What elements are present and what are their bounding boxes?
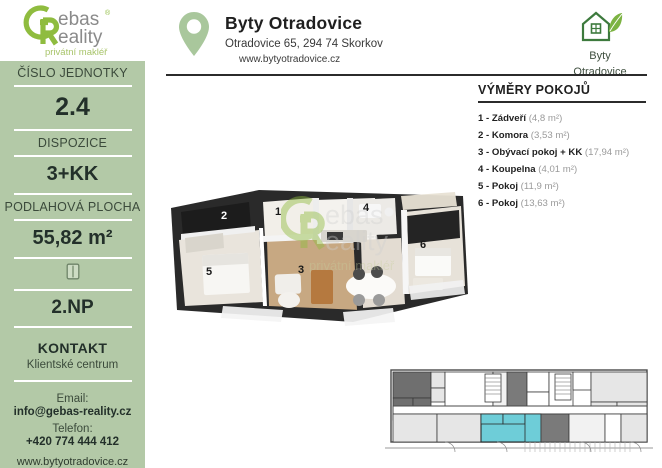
room-area: (13,63 m²) <box>521 198 565 209</box>
room-areas-panel: VÝMĚRY POKOJŮ 1 - Zádveří (4,8 m²) 2 - K… <box>478 83 653 212</box>
floorplan-flyer: ebas ® eality privátní makléř ČÍSLO JEDN… <box>0 0 662 468</box>
unit-number-value: 2.4 <box>0 87 145 129</box>
room-name: Pokoj <box>492 181 518 192</box>
byty-otradovice-brand: Byty Otradovice <box>552 8 648 78</box>
phone-label: Telefon: <box>0 421 145 436</box>
layout-label: DISPOZICE <box>0 131 145 155</box>
room-number-5: 5 <box>206 266 212 278</box>
apartment-3d-floorplan: ebas eality privátní makléř 1 2 3 4 5 6 <box>163 182 478 334</box>
building-icon <box>66 263 80 285</box>
room-number-1: 1 <box>275 206 281 218</box>
header: Byty Otradovice Otradovice 65, 294 74 Sk… <box>145 0 662 72</box>
address-text: Otradovice 65, 294 74 Skorkov <box>225 34 383 50</box>
floor-area-label: PODLAHOVÁ PLOCHA <box>0 195 145 219</box>
building-site-plan <box>385 362 653 460</box>
header-divider <box>166 74 647 76</box>
room-list-item: 3 - Obývací pokoj + KK (17,94 m²) <box>478 144 653 161</box>
header-website[interactable]: www.bytyotradovice.cz <box>225 50 383 65</box>
sidebar: ebas ® eality privátní makléř ČÍSLO JEDN… <box>0 0 145 468</box>
room-area: (17,94 m²) <box>585 147 629 158</box>
room-number: 4 - <box>478 164 492 175</box>
room-number-4: 4 <box>363 202 369 214</box>
room-number: 6 - <box>478 198 492 209</box>
room-number: 5 - <box>478 181 492 192</box>
room-area: (3,53 m²) <box>531 130 570 141</box>
floor-area-value: 55,82 m² <box>0 221 145 257</box>
page-title: Byty Otradovice <box>225 13 383 34</box>
sidebar-details: ČÍSLO JEDNOTKY 2.4 DISPOZICE 3+KK PODLAH… <box>0 61 145 468</box>
email-label: Email: <box>0 391 145 406</box>
house-leaf-icon <box>569 29 631 46</box>
header-text: Byty Otradovice Otradovice 65, 294 74 Sk… <box>225 13 383 65</box>
room-area: (11,9 m²) <box>521 181 559 192</box>
room-number: 3 - <box>478 147 492 158</box>
logo-line2-text: eality <box>58 27 103 48</box>
layout-value: 3+KK <box>0 157 145 193</box>
phone-value[interactable]: +420 774 444 412 <box>0 436 145 451</box>
gebas-reality-logo: ebas ® eality privátní makléř <box>17 1 129 61</box>
room-name: Koupelna <box>492 164 536 175</box>
room-number: 2 - <box>478 130 492 141</box>
room-list-item: 5 - Pokoj (11,9 m²) <box>478 178 653 195</box>
logo-registered-mark: ® <box>105 9 111 17</box>
room-name: Zádveří <box>492 113 526 124</box>
website-link[interactable]: www.bytyotradovice.cz <box>0 451 145 468</box>
room-number-3: 3 <box>298 264 304 276</box>
floor-value: 2.NP <box>0 291 145 326</box>
contact-title: KONTAKT <box>0 340 145 356</box>
contact-details: Email: info@gebas-reality.cz Telefon: +4… <box>0 382 145 468</box>
room-area: (4,8 m²) <box>529 113 563 124</box>
building-icon-row <box>0 259 145 289</box>
room-name: Pokoj <box>492 198 518 209</box>
room-area: (4,01 m²) <box>538 164 577 175</box>
room-name: Obývací pokoj + KK <box>492 147 582 158</box>
unit-number-label: ČÍSLO JEDNOTKY <box>0 61 145 85</box>
room-number: 1 - <box>478 113 492 124</box>
logo-tagline-text: privátní makléř <box>45 47 108 58</box>
divider <box>478 101 646 103</box>
room-list-item: 1 - Zádveří (4,8 m²) <box>478 110 653 127</box>
room-areas-title: VÝMĚRY POKOJŮ <box>478 83 653 97</box>
room-number-2: 2 <box>221 210 227 222</box>
room-number-6: 6 <box>420 239 426 251</box>
map-pin-icon <box>178 11 210 62</box>
room-list-item: 4 - Koupelna (4,01 m²) <box>478 161 653 178</box>
room-list-item: 6 - Pokoj (13,63 m²) <box>478 195 653 212</box>
room-name: Komora <box>492 130 528 141</box>
contact-subtitle: Klientské centrum <box>0 356 145 371</box>
logo-container: ebas ® eality privátní makléř <box>0 0 145 61</box>
brand-line1: Byty <box>552 47 648 63</box>
room-list-item: 2 - Komora (3,53 m²) <box>478 127 653 144</box>
email-value[interactable]: info@gebas-reality.cz <box>0 406 145 421</box>
contact-section: KONTAKT Klientské centrum <box>0 328 145 371</box>
